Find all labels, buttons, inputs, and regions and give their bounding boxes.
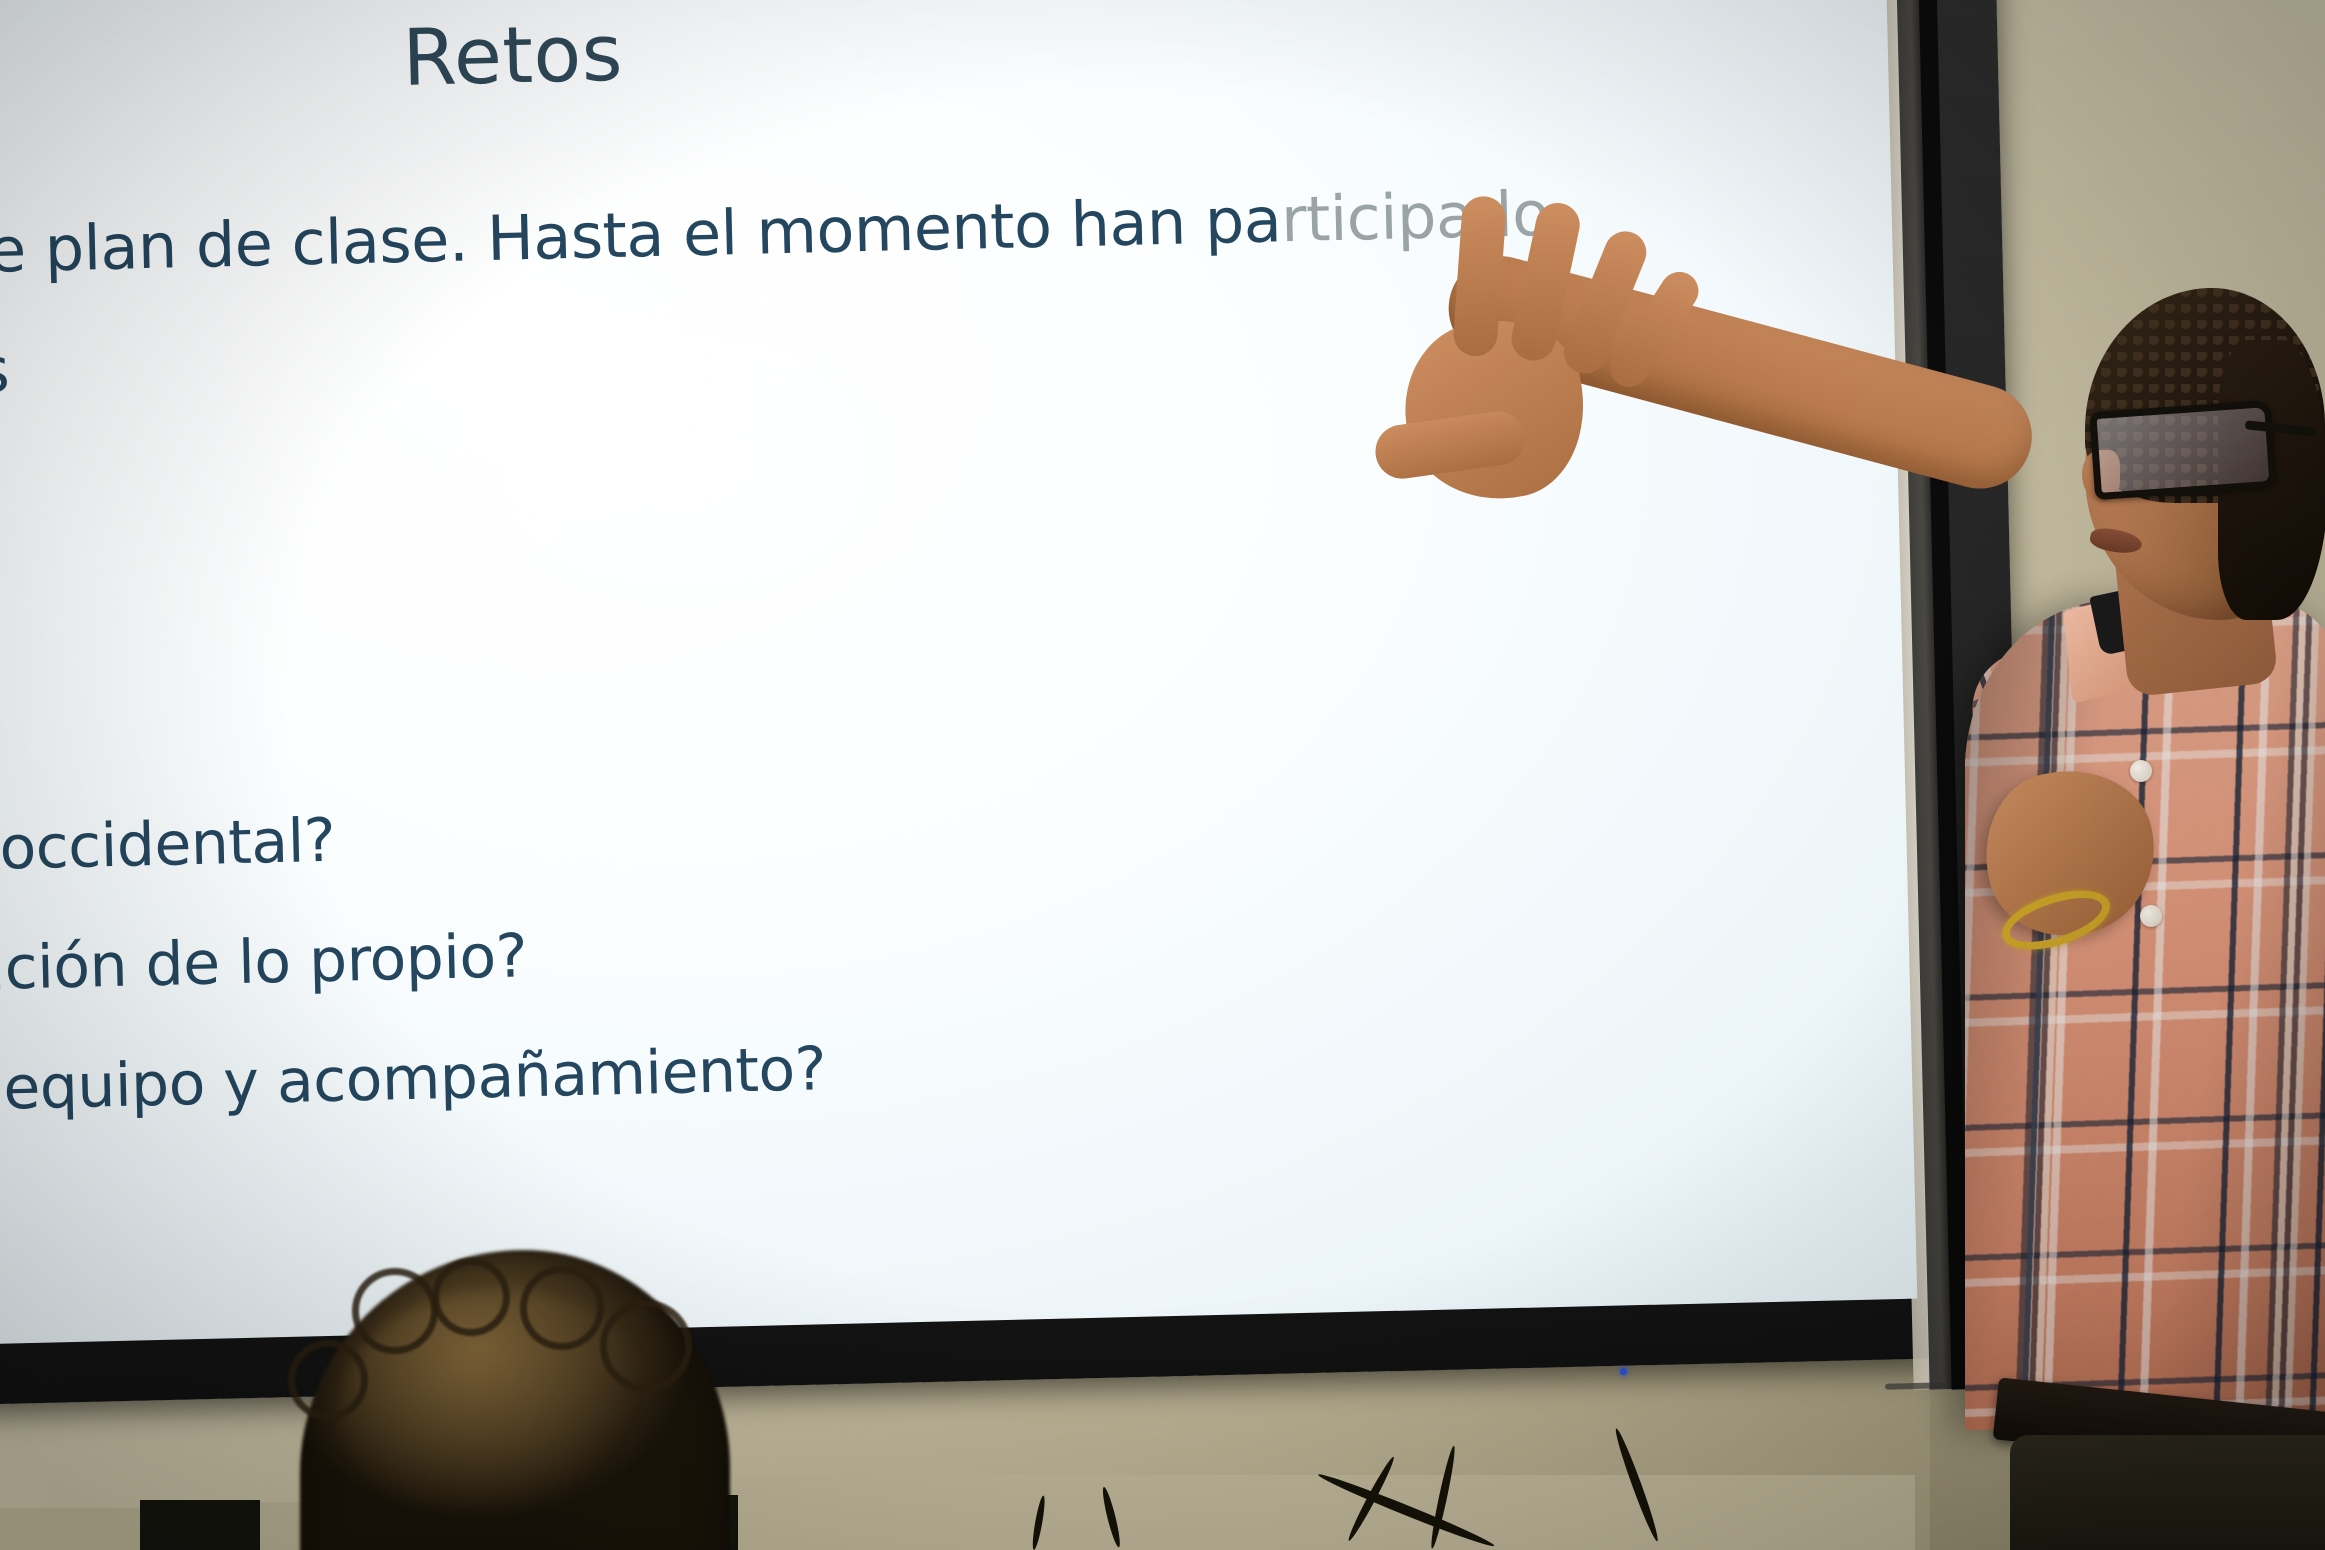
presenter-torso xyxy=(1965,600,2325,1430)
presenter-trousers xyxy=(2010,1435,2325,1550)
shirt-button-1 xyxy=(2130,760,2152,782)
shirt-button-2 xyxy=(2140,905,2162,927)
audience-hair-curl-5 xyxy=(288,1340,368,1420)
audience-hair-curl-2 xyxy=(432,1258,510,1336)
audience-hair-curl-3 xyxy=(520,1266,604,1350)
presenter-figure xyxy=(0,0,2325,1550)
presentation-photo-scene: Retos n de plan de clase. Hasta el momen… xyxy=(0,0,2325,1550)
eyeglasses-icon xyxy=(2089,400,2277,500)
audience-hair-curl-1 xyxy=(352,1268,438,1354)
audience-hair-curl-4 xyxy=(600,1300,692,1392)
torso-shading xyxy=(1965,600,2325,1430)
